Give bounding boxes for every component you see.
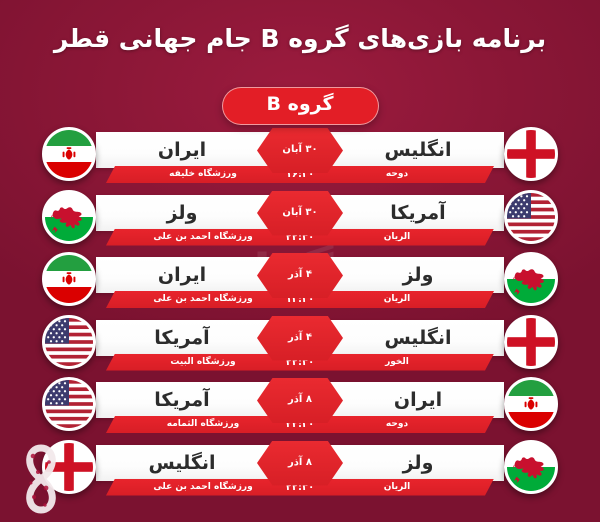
usa-flag-icon bbox=[504, 190, 558, 244]
away-team-name: آمریکا bbox=[112, 320, 252, 356]
venue-label: ورزشگاه احمد بن علی bbox=[128, 291, 278, 308]
usa-flag-icon bbox=[42, 315, 96, 369]
wales-flag-icon bbox=[504, 252, 558, 306]
home-team-name: انگلیس bbox=[348, 132, 488, 168]
match-date-hexagon: ۴ آذر bbox=[257, 316, 343, 361]
qatar-2022-logo-icon bbox=[18, 442, 64, 516]
home-team-name: انگلیس bbox=[348, 320, 488, 356]
away-team-name: ایران bbox=[112, 257, 252, 293]
match-row[interactable]: ولزایرانالریان۱۳:۳۰ورزشگاه احمد بن علی۴ … bbox=[0, 253, 600, 316]
home-team-name: ایران bbox=[348, 382, 488, 418]
match-date: ۳۰ آبان bbox=[282, 207, 317, 220]
match-date-hexagon: ۴ آذر bbox=[257, 253, 343, 298]
match-date: ۸ آذر bbox=[288, 394, 312, 407]
group-badge[interactable]: گروه B bbox=[222, 87, 379, 125]
match-date: ۴ آذر bbox=[288, 332, 312, 345]
match-date-hexagon: ۸ آذر bbox=[257, 441, 343, 486]
match-list: انگلیسایراندوحه۱۶:۳۰ورزشگاه خلیفه۳۰ آبان… bbox=[0, 128, 600, 503]
venue-label: ورزشگاه خلیفه bbox=[128, 166, 278, 183]
wales-flag-icon bbox=[504, 440, 558, 494]
iran-flag-icon bbox=[504, 377, 558, 431]
match-row[interactable]: آمریکاولزالریان۲۲:۳۰ورزشگاه احمد بن علی۳… bbox=[0, 191, 600, 254]
wales-flag-icon bbox=[42, 190, 96, 244]
poster-background: خبرگزاری برنامه بازی‌های گروه B جام جهان… bbox=[0, 0, 600, 522]
england-flag-icon bbox=[504, 127, 558, 181]
match-row[interactable]: انگلیسآمریکاالخور۲۲:۳۰ورزشگاه البیت۴ آذر bbox=[0, 316, 600, 379]
match-date-hexagon: ۸ آذر bbox=[257, 378, 343, 423]
match-date: ۳۰ آبان bbox=[282, 144, 317, 157]
group-badge-container: گروه B bbox=[0, 87, 600, 125]
venue-label: ورزشگاه احمد بن علی bbox=[128, 229, 278, 246]
match-row[interactable]: انگلیسایراندوحه۱۶:۳۰ورزشگاه خلیفه۳۰ آبان bbox=[0, 128, 600, 191]
home-team-name: ولز bbox=[348, 257, 488, 293]
england-flag-icon bbox=[504, 315, 558, 369]
home-team-name: ولز bbox=[348, 445, 488, 481]
iran-flag-icon bbox=[42, 127, 96, 181]
away-team-name: ولز bbox=[112, 195, 252, 231]
iran-flag-icon bbox=[42, 252, 96, 306]
home-team-name: آمریکا bbox=[348, 195, 488, 231]
usa-flag-icon bbox=[42, 377, 96, 431]
venue-label: ورزشگاه البیت bbox=[128, 354, 278, 371]
away-team-name: انگلیس bbox=[112, 445, 252, 481]
match-date-hexagon: ۳۰ آبان bbox=[257, 191, 343, 236]
match-row[interactable]: ولزانگلیسالریان۲۲:۳۰ورزشگاه احمد بن علی۸… bbox=[0, 441, 600, 504]
venue-label: ورزشگاه احمد بن علی bbox=[128, 479, 278, 496]
match-date: ۴ آذر bbox=[288, 269, 312, 282]
page-title: برنامه بازی‌های گروه B جام جهانی قطر bbox=[0, 22, 600, 56]
match-date-hexagon: ۳۰ آبان bbox=[257, 128, 343, 173]
away-team-name: آمریکا bbox=[112, 382, 252, 418]
match-row[interactable]: ایرانآمریکادوحه۲۲:۳۰ورزشگاه الثمامه۸ آذر bbox=[0, 378, 600, 441]
match-date: ۸ آذر bbox=[288, 457, 312, 470]
away-team-name: ایران bbox=[112, 132, 252, 168]
venue-label: ورزشگاه الثمامه bbox=[128, 416, 278, 433]
